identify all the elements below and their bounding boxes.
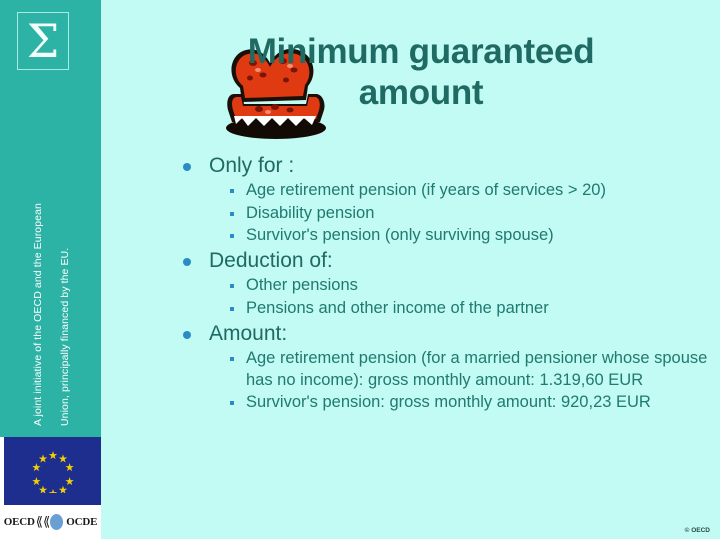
sub-bullet-dot-icon <box>230 212 234 216</box>
oecd-oval-icon <box>50 514 63 530</box>
sub-bullet-dot-icon <box>230 189 234 193</box>
sigma-icon: Σ <box>18 13 68 69</box>
bullet-level2: Disability pension <box>176 203 716 224</box>
oecd-label-right: OCDE <box>66 516 97 528</box>
bullet-text: Other pensions <box>246 276 358 294</box>
bullet-text: Deduction of: <box>209 249 333 272</box>
bullet-dot-icon <box>183 258 191 266</box>
sub-bullet-dot-icon <box>230 357 234 361</box>
bullet-level2: Survivor's pension: gross monthly amount… <box>176 392 716 413</box>
double-chevron-icon: ⟪⟪ <box>36 516 50 529</box>
page-title: Minimum guaranteed amount <box>216 32 626 113</box>
bullet-level2: Age retirement pension (if years of serv… <box>176 180 716 201</box>
bullet-level2: Pensions and other income of the partner <box>176 298 716 319</box>
title-line-1: Minimum guaranteed <box>216 32 626 73</box>
bullet-text: Age retirement pension (for a married pe… <box>246 349 707 388</box>
bullet-text: Age retirement pension (if years of serv… <box>246 181 606 199</box>
bullet-dot-icon <box>183 331 191 339</box>
oecd-label-left: OECD <box>4 516 35 528</box>
bullet-text: Amount: <box>209 322 287 345</box>
title-line-2: amount <box>216 73 626 114</box>
sub-bullet-dot-icon <box>230 401 234 405</box>
bullet-text: Survivor's pension (only surviving spous… <box>246 226 554 244</box>
bullet-list: Only for : Age retirement pension (if ye… <box>176 152 716 414</box>
oecd-logo: OECD ⟪⟪ OCDE <box>0 505 101 539</box>
bullet-text: Pensions and other income of the partner <box>246 299 549 317</box>
bullet-level2: Survivor's pension (only surviving spous… <box>176 225 716 246</box>
sigma-logo-box: Σ <box>17 12 69 70</box>
sidebar: Σ A joint initiative of the OECD and the… <box>0 0 101 539</box>
bullet-text: Disability pension <box>246 204 374 222</box>
sidebar-vertical-text: A joint initiative of the OECD and the E… <box>0 88 101 428</box>
bullet-level1: Deduction of: <box>176 247 716 274</box>
bullet-level1: Only for : <box>176 152 716 179</box>
bullet-level1: Amount: <box>176 320 716 347</box>
bullet-level2: Age retirement pension (for a married pe… <box>176 348 716 391</box>
eu-flag-icon <box>4 437 101 505</box>
bullet-dot-icon <box>183 163 191 171</box>
bullet-text: Only for : <box>209 154 294 177</box>
eu-stars-icon <box>31 449 75 493</box>
copyright-notice: © OECD <box>685 527 710 534</box>
sidebar-vertical-text-line-1: A joint initiative of the OECD and the E… <box>32 203 44 426</box>
title-block: Minimum guaranteed amount <box>108 14 720 132</box>
presentation-slide: Σ A joint initiative of the OECD and the… <box>0 0 720 539</box>
sidebar-vertical-text-line-2: Union, principally financed by the EU. <box>59 248 71 426</box>
sub-bullet-dot-icon <box>230 307 234 311</box>
sub-bullet-dot-icon <box>230 234 234 238</box>
sub-bullet-dot-icon <box>230 284 234 288</box>
bullet-level2: Other pensions <box>176 275 716 296</box>
oecd-logo-mark: ⟪⟪ <box>36 514 65 530</box>
bullet-text: Survivor's pension: gross monthly amount… <box>246 393 651 411</box>
